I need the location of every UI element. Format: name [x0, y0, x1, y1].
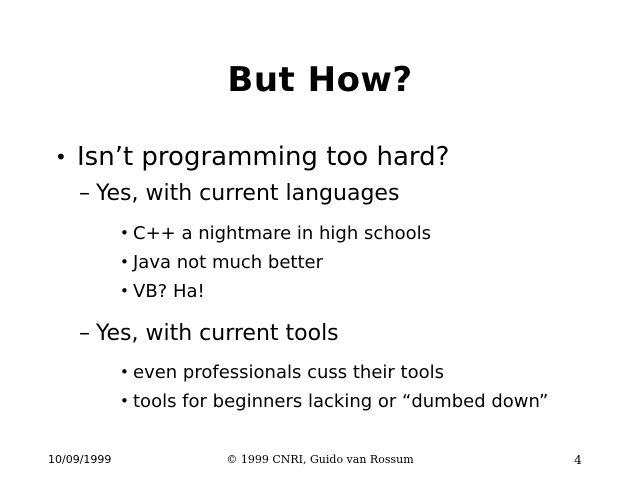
- outline-item-level2: – Yes, with current tools: [0, 317, 640, 350]
- outline-item-text: Java not much better: [120, 248, 323, 277]
- bullet-dot-icon: •: [55, 140, 67, 175]
- footer-copyright: © 1999 CNRI, Guido van Rossum: [0, 452, 640, 468]
- outline-item-text: VB? Ha!: [120, 277, 205, 306]
- bullet-dot-icon: •: [120, 387, 129, 416]
- slide-body-outline: • Isn’t programming too hard? – Yes, wit…: [0, 140, 640, 416]
- bullet-dot-icon: •: [120, 248, 129, 277]
- outline-item-text: Isn’t programming too hard?: [55, 140, 449, 175]
- outline-item-text: C++ a nightmare in high schools: [120, 219, 431, 248]
- bullet-dash-icon: –: [79, 177, 90, 210]
- outline-item-level1: • Isn’t programming too hard?: [0, 140, 640, 175]
- outline-item-level3: • VB? Ha!: [0, 277, 640, 306]
- bullet-dot-icon: •: [120, 277, 129, 306]
- outline-item-text: Yes, with current tools: [79, 317, 339, 350]
- outline-item-text: even professionals cuss their tools: [120, 358, 444, 387]
- bullet-dot-icon: •: [120, 358, 129, 387]
- spacer: [0, 306, 640, 315]
- outline-item-level3: • even professionals cuss their tools: [0, 358, 640, 387]
- outline-item-level2: – Yes, with current languages: [0, 177, 640, 210]
- spacer: [0, 350, 640, 358]
- presentation-slide: But How? • Isn’t programming too hard? –…: [0, 0, 640, 480]
- outline-item-level3: • tools for beginners lacking or “dumbed…: [0, 387, 640, 416]
- bullet-dot-icon: •: [120, 219, 129, 248]
- outline-item-text: Yes, with current languages: [79, 177, 399, 210]
- outline-item-level3: • Java not much better: [0, 248, 640, 277]
- page-title: But How?: [0, 60, 640, 100]
- slide-footer: 10/09/1999 © 1999 CNRI, Guido van Rossum…: [0, 452, 640, 472]
- footer-page-number: 4: [560, 452, 596, 468]
- outline-item-level3: • C++ a nightmare in high schools: [0, 219, 640, 248]
- outline-item-text: tools for beginners lacking or “dumbed d…: [120, 387, 548, 416]
- spacer: [0, 210, 640, 219]
- bullet-dash-icon: –: [79, 317, 90, 350]
